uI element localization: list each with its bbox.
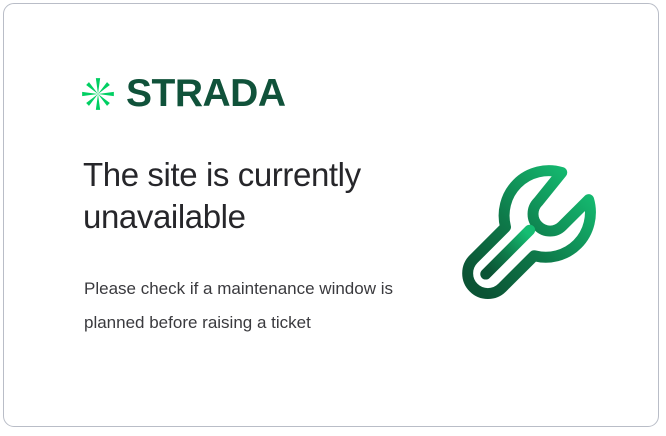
wrench-icon xyxy=(459,159,611,315)
status-card: STRADA The site is currently unavailable… xyxy=(3,3,659,427)
strada-asterisk-star-icon xyxy=(80,76,116,112)
page-description: Please check if a maintenance window is … xyxy=(84,272,394,340)
brand-logo: STRADA xyxy=(80,74,286,113)
page-title: The site is currently unavailable xyxy=(83,154,413,237)
error-page: STRADA The site is currently unavailable… xyxy=(0,0,666,436)
brand-wordmark: STRADA xyxy=(126,74,286,113)
